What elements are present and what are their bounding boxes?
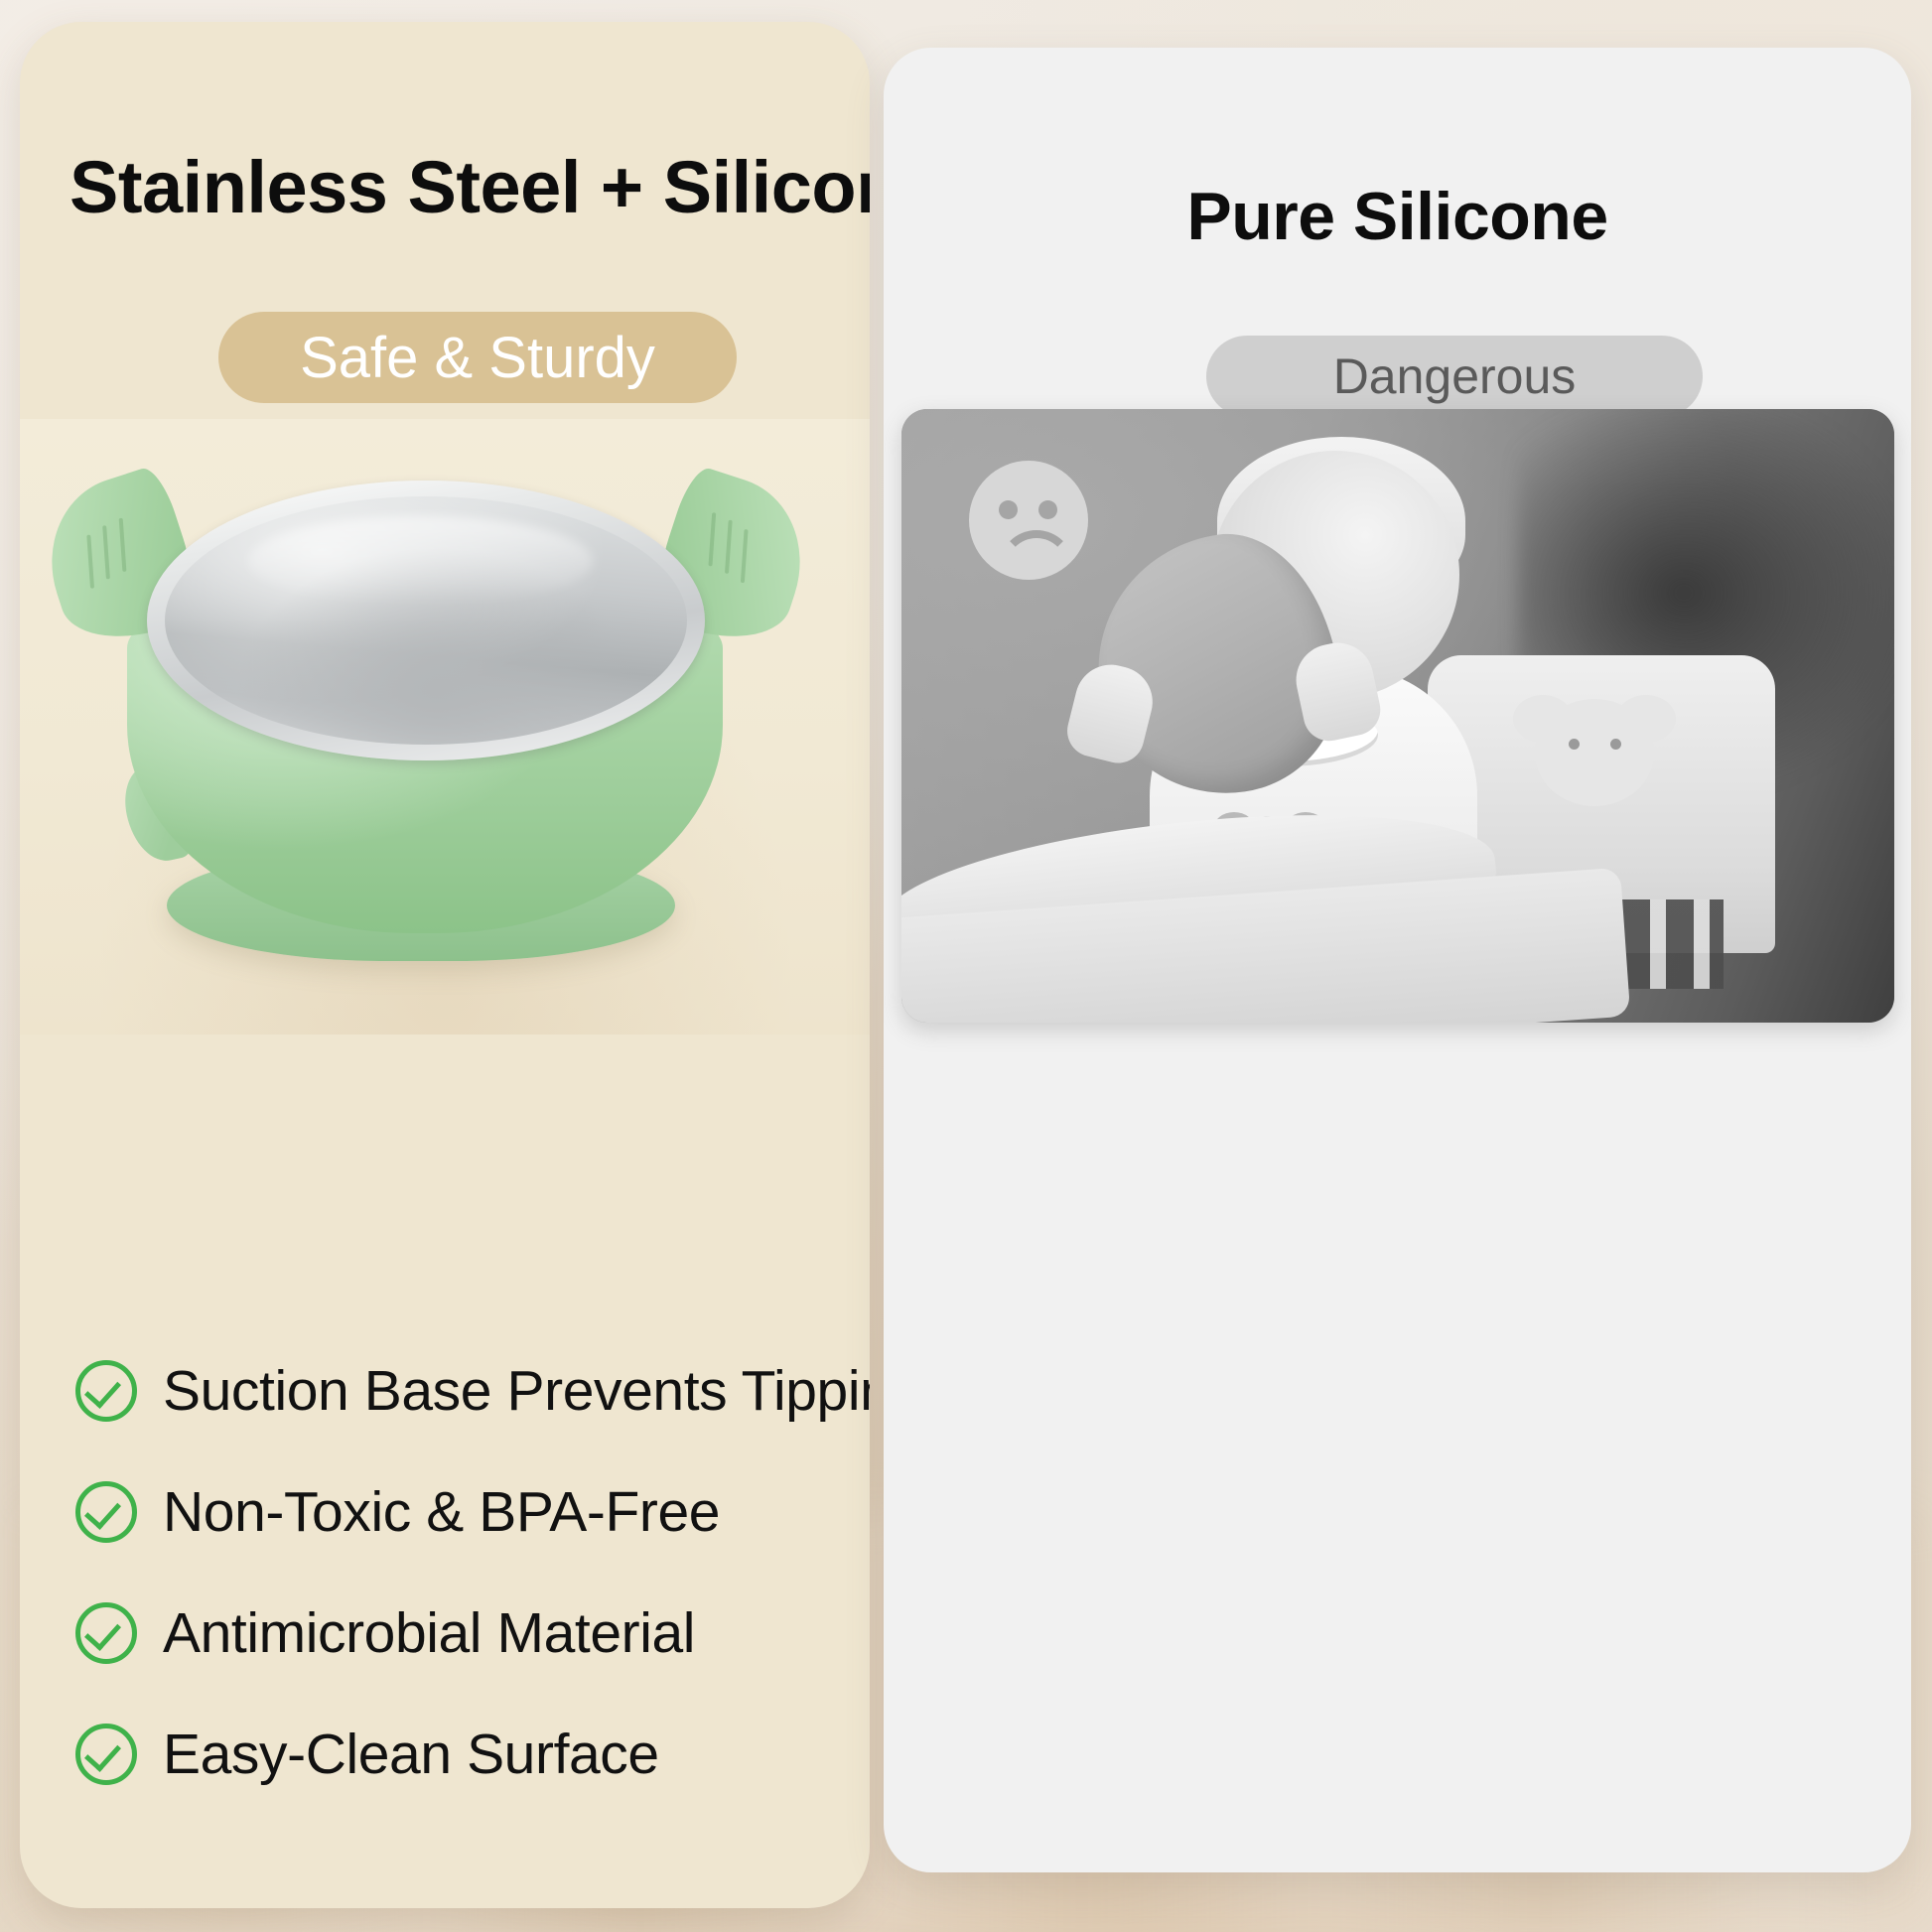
feature-label: Non-Toxic & BPA-Free: [163, 1479, 720, 1545]
sad-face-icon: [969, 461, 1088, 580]
feature-label: Easy-Clean Surface: [163, 1722, 659, 1787]
list-item: Suction Base Prevents Tipping: [75, 1330, 870, 1451]
list-item: Non-Toxic & BPA-Free: [75, 1451, 870, 1573]
product-image: [20, 419, 870, 1035]
bear-motif-icon: [1535, 699, 1654, 806]
comparison-infographic: Stainless Steel + Silicone Safe & Sturdy: [0, 0, 1932, 1932]
safe-sturdy-badge: Safe & Sturdy: [218, 312, 737, 403]
feature-label: Suction Base Prevents Tipping: [163, 1358, 870, 1424]
left-feature-list: Suction Base Prevents Tipping Non-Toxic …: [75, 1330, 870, 1815]
check-circle-icon: [75, 1481, 137, 1543]
list-item: Easy-Clean Surface: [75, 1694, 870, 1815]
left-card-title: Stainless Steel + Silicone: [69, 149, 870, 226]
hazard-photo: [901, 409, 1894, 1023]
right-card-title: Pure Silicone: [884, 182, 1911, 252]
steel-highlight: [248, 516, 593, 606]
right-product-card: Pure Silicone Dangerous: [884, 48, 1911, 1872]
stainless-steel-rim: [147, 481, 705, 760]
stainless-steel-interior: [165, 496, 687, 745]
feature-label: Antimicrobial Material: [163, 1600, 695, 1666]
dangerous-badge: Dangerous: [1206, 336, 1703, 417]
check-circle-icon: [75, 1724, 137, 1785]
check-circle-icon: [75, 1602, 137, 1664]
list-item: Antimicrobial Material: [75, 1573, 870, 1694]
check-circle-icon: [75, 1360, 137, 1422]
left-product-card: Stainless Steel + Silicone Safe & Sturdy: [20, 22, 870, 1908]
